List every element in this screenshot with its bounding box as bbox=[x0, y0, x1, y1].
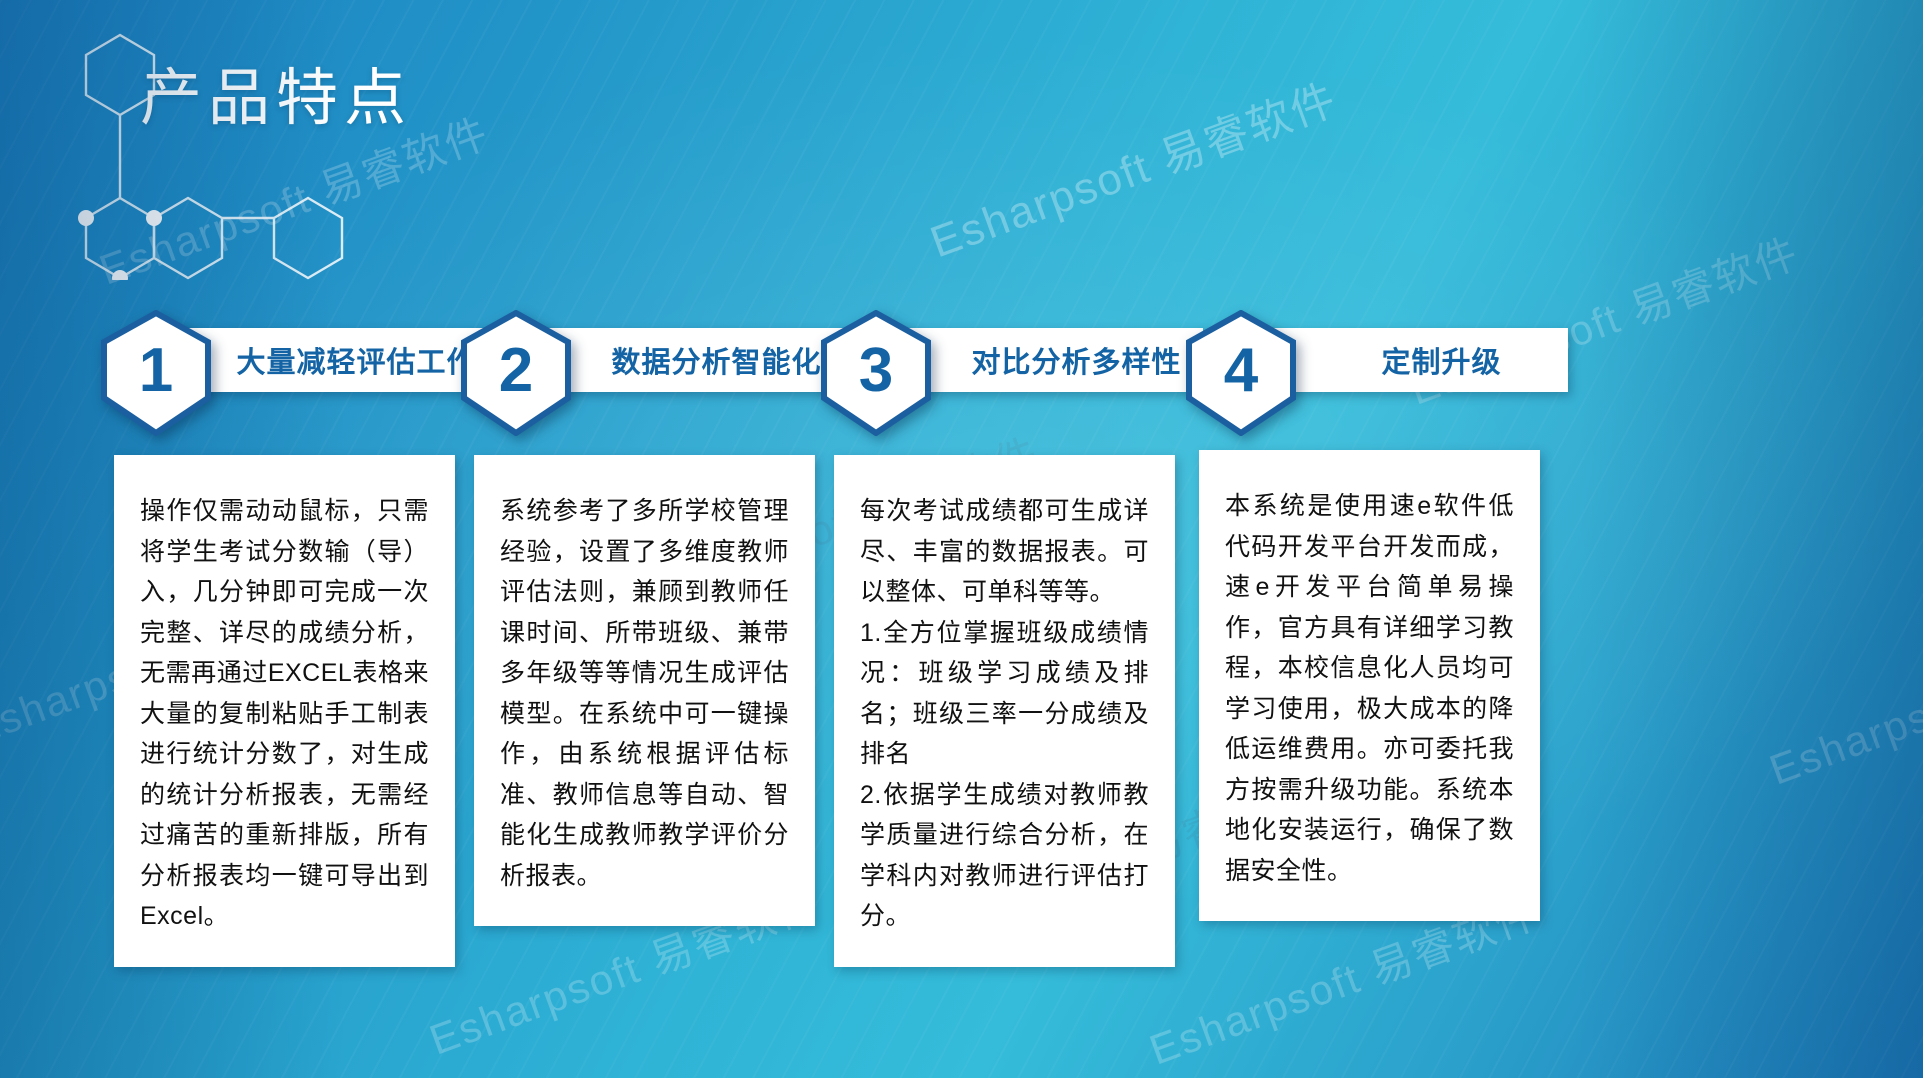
feature-card-number: 2 bbox=[460, 310, 572, 436]
feature-card-header: 定制升级 bbox=[1257, 328, 1568, 392]
feature-card-header: 对比分析多样性 bbox=[892, 328, 1203, 392]
watermark: Esharpsoft 易睿软件 bbox=[1760, 600, 1923, 798]
feature-card-title: 大量减轻评估工作 bbox=[172, 339, 483, 381]
feature-card-text: 每次考试成绩都可生成详尽、丰富的数据报表。可以整体、可单科等等。 1.全方位掌握… bbox=[860, 491, 1149, 937]
feature-card: 定制升级 4 本系统是使用速e软件低代码开发平台开发而成，速e开发平台简单易操作… bbox=[1185, 0, 1568, 1078]
feature-card-header: 数据分析智能化 bbox=[532, 328, 843, 392]
feature-card-title: 对比分析多样性 bbox=[892, 339, 1203, 381]
feature-card: 数据分析智能化 2 系统参考了多所学校管理经验，设置了多维度教师评估法则，兼顾到… bbox=[460, 0, 843, 1078]
feature-card: 大量减轻评估工作 1 操作仅需动动鼠标，只需将学生考试分数输（导）入，几分钟即可… bbox=[100, 0, 483, 1078]
feature-card-body: 操作仅需动动鼠标，只需将学生考试分数输（导）入，几分钟即可完成一次完整、详尽的成… bbox=[114, 455, 455, 967]
feature-card-text: 本系统是使用速e软件低代码开发平台开发而成，速e开发平台简单易操作，官方具有详细… bbox=[1225, 486, 1514, 891]
feature-card-body: 本系统是使用速e软件低代码开发平台开发而成，速e开发平台简单易操作，官方具有详细… bbox=[1199, 450, 1540, 921]
feature-card-body: 每次考试成绩都可生成详尽、丰富的数据报表。可以整体、可单科等等。 1.全方位掌握… bbox=[834, 455, 1175, 967]
feature-card-text: 操作仅需动动鼠标，只需将学生考试分数输（导）入，几分钟即可完成一次完整、详尽的成… bbox=[140, 491, 429, 937]
feature-card-text: 系统参考了多所学校管理经验，设置了多维度教师评估法则，兼顾到教师任课时间、所带班… bbox=[500, 491, 789, 896]
feature-card-title: 数据分析智能化 bbox=[532, 339, 843, 381]
feature-card-header: 大量减轻评估工作 bbox=[172, 328, 483, 392]
feature-card-body: 系统参考了多所学校管理经验，设置了多维度教师评估法则，兼顾到教师任课时间、所带班… bbox=[474, 455, 815, 926]
feature-card: 对比分析多样性 3 每次考试成绩都可生成详尽、丰富的数据报表。可以整体、可单科等… bbox=[820, 0, 1203, 1078]
slide-canvas: 产品特点 Esharpsoft 易睿软件 Esharpsoft 易睿软件 Esh… bbox=[0, 0, 1923, 1078]
feature-card-number: 4 bbox=[1185, 310, 1297, 436]
feature-card-number: 3 bbox=[820, 310, 932, 436]
feature-card-title: 定制升级 bbox=[1257, 339, 1568, 381]
feature-card-number: 1 bbox=[100, 310, 212, 436]
